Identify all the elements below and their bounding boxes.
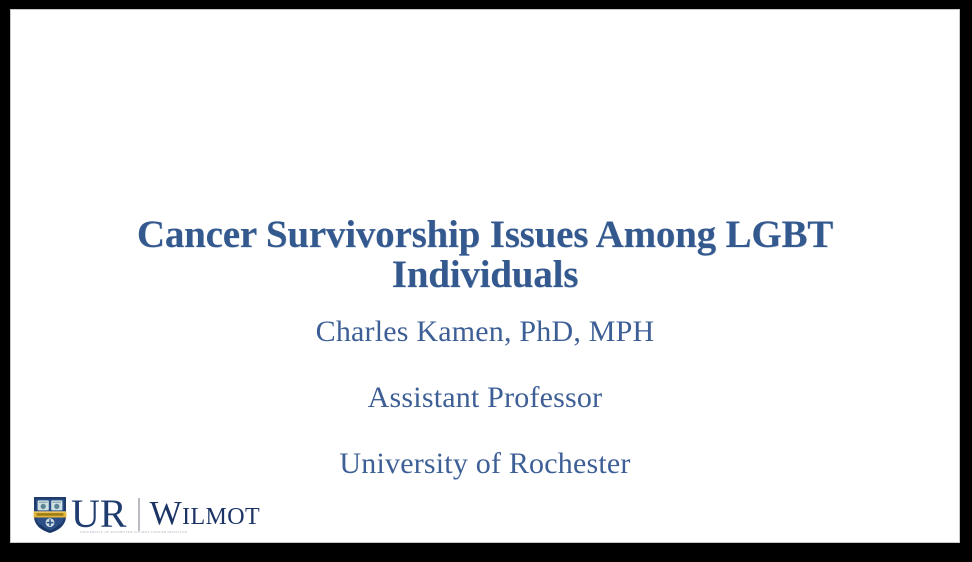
presenter-affiliation: University of Rochester bbox=[70, 447, 900, 481]
ur-wilmot-logo: UR Wilmot UNIVERSITY OF ROCHESTER WILMOT… bbox=[32, 491, 260, 537]
logo-wilmot-wordmark: Wilmot bbox=[150, 497, 260, 531]
presenter-info-block: Charles Kamen, PhD, MPH Assistant Profes… bbox=[70, 315, 900, 481]
logo-microtext: UNIVERSITY OF ROCHESTER WILMOT CANCER IN… bbox=[80, 530, 292, 534]
logo-ur-wordmark: UR bbox=[71, 494, 127, 534]
slide-canvas: Cancer Survivorship Issues Among LGBT In… bbox=[10, 9, 960, 543]
ur-shield-crest-icon bbox=[32, 494, 68, 534]
presenter-title: Assistant Professor bbox=[70, 381, 900, 415]
slide-letterbox-frame: Cancer Survivorship Issues Among LGBT In… bbox=[0, 0, 972, 562]
logo-divider-rule bbox=[138, 498, 140, 531]
page-title: Cancer Survivorship Issues Among LGBT In… bbox=[70, 215, 900, 295]
presenter-name: Charles Kamen, PhD, MPH bbox=[70, 315, 900, 349]
